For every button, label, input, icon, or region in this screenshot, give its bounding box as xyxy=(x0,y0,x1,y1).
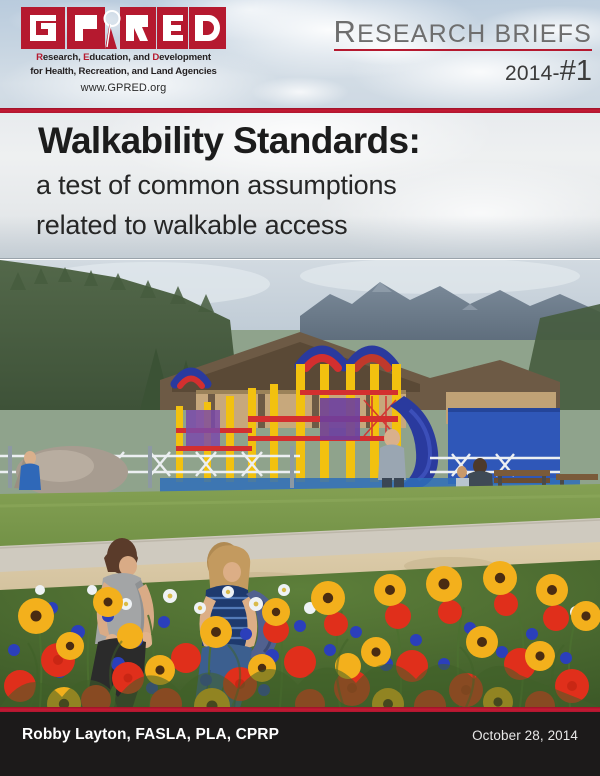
logo-tagline-line1: Research, Education, and Development xyxy=(16,52,231,64)
cover-photograph xyxy=(0,260,600,707)
logo-website-url[interactable]: www.GPRED.org xyxy=(16,82,231,94)
gpred-wordmark xyxy=(21,6,226,50)
page-subtitle-line1: a test of common assumptions xyxy=(36,168,397,202)
logo-tagline-line2: for Health, Recreation, and Land Agencie… xyxy=(16,66,231,78)
research-brief-cover: Research, Education, and Development for… xyxy=(0,0,600,776)
series-identifier: RESEARCH BRIEFS 2014-#1 xyxy=(334,18,593,91)
publication-date: October 28, 2014 xyxy=(472,728,578,743)
title-band: Walkability Standards: a test of common … xyxy=(0,113,600,259)
author-name: Robby Layton, FASLA, PLA, CPRP xyxy=(22,726,279,744)
series-title: RESEARCH BRIEFS xyxy=(334,18,593,48)
footer-band: Robby Layton, FASLA, PLA, CPRP October 2… xyxy=(0,712,600,776)
magnifying-glass-icon xyxy=(105,11,120,49)
header-band: Research, Education, and Development for… xyxy=(0,0,600,108)
page-subtitle-line2: related to walkable access xyxy=(36,208,347,242)
issue-number: 2014-#1 xyxy=(334,56,593,91)
page-title: Walkability Standards: xyxy=(38,119,420,163)
gpred-logo[interactable]: Research, Education, and Development for… xyxy=(16,6,231,94)
series-title-rule xyxy=(334,49,593,51)
